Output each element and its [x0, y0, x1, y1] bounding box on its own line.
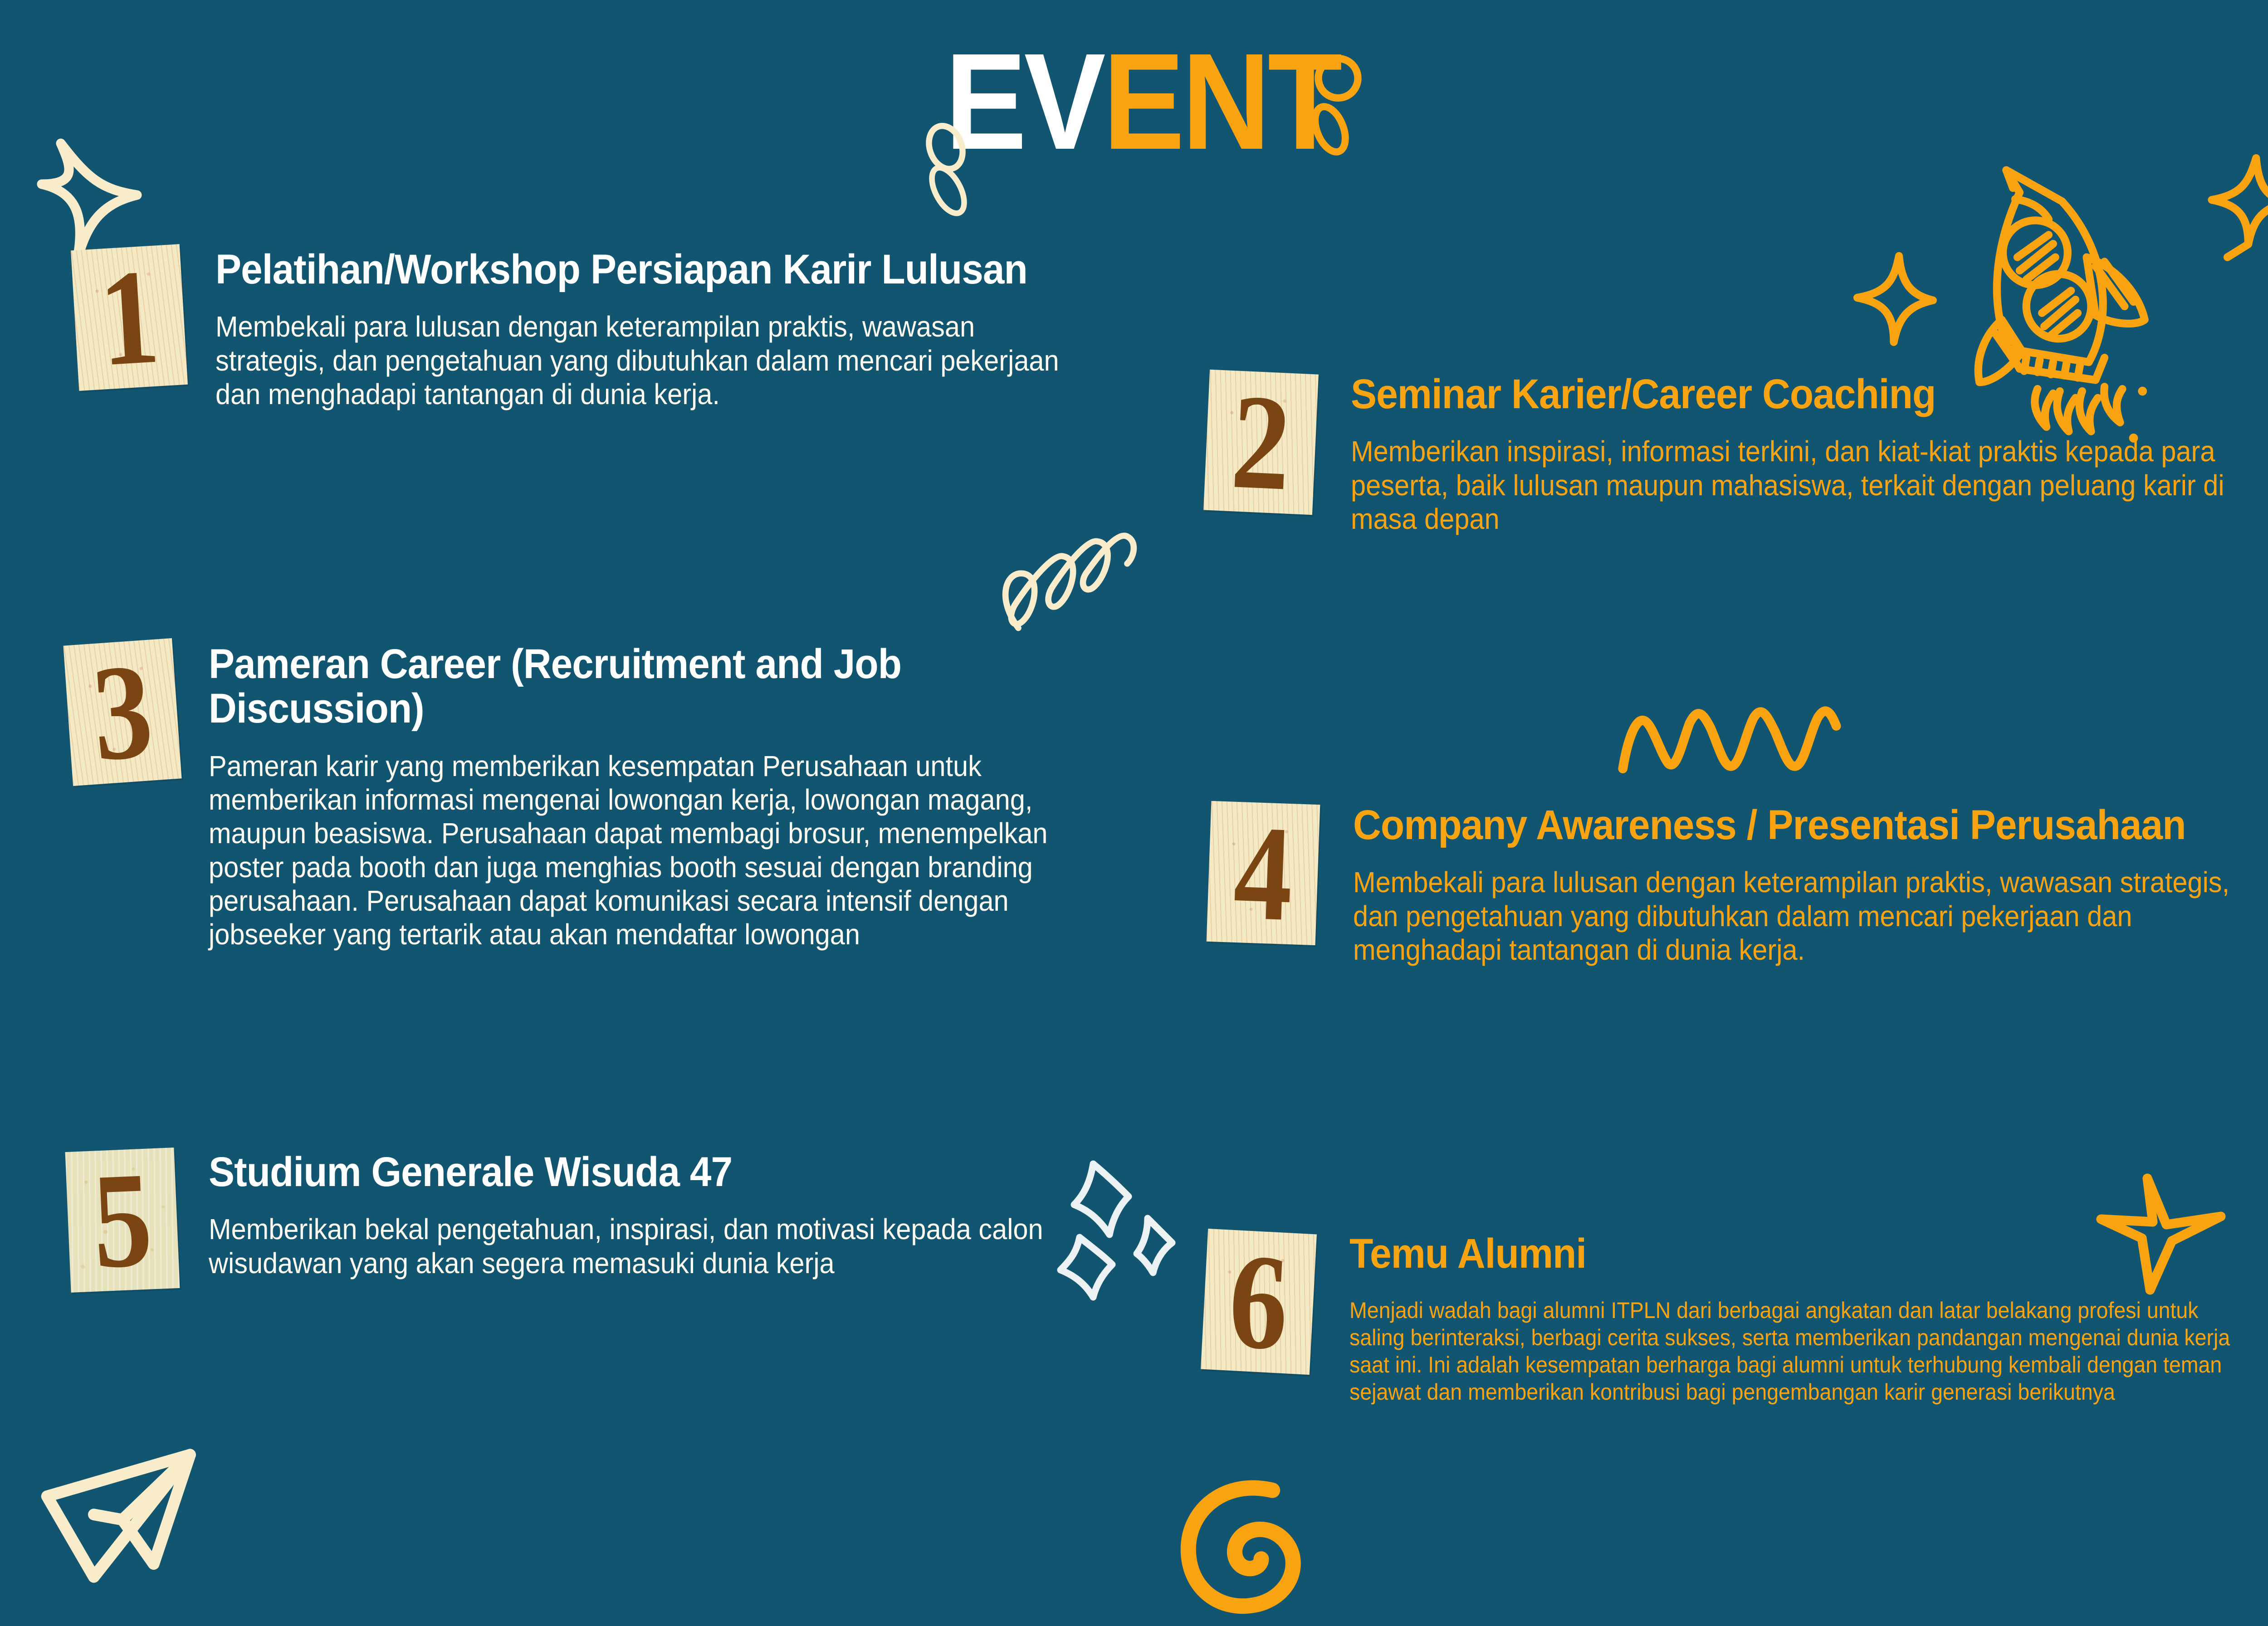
item-title: Company Awareness / Presentasi Perusahaa…	[1353, 803, 2240, 847]
zigzag-wave-icon	[1615, 698, 1842, 780]
item-number-badge: 1	[71, 244, 188, 391]
item-number: 5	[91, 1163, 154, 1277]
item-number-badge: 2	[1203, 370, 1319, 515]
item-number-badge: 6	[1201, 1229, 1317, 1375]
event-item-6: 6 Temu Alumni Menjadi wadah bagi alumni …	[1204, 1231, 2268, 1406]
event-item-1: 1 Pelatihan/Workshop Persiapan Karir Lul…	[75, 247, 1145, 411]
item-number: 1	[97, 260, 161, 375]
item-content: Pameran Career (Recruitment and Job Disc…	[177, 642, 1175, 951]
item-title: Seminar Karier/Career Coaching	[1351, 372, 2268, 416]
event-item-2: 2 Seminar Karier/Career Coaching Memberi…	[1207, 372, 2268, 536]
scribble-ring-icon	[921, 118, 971, 177]
item-description: Menjadi wadah bagi alumni ITPLN dari ber…	[1349, 1297, 2244, 1406]
item-content: Company Awareness / Presentasi Perusahaa…	[1318, 803, 2268, 967]
scribble-ring-icon	[1311, 50, 1365, 107]
event-infographic-poster: EVENT	[0, 0, 2268, 1625]
item-number-badge: 5	[65, 1147, 180, 1293]
item-number-badge: 4	[1207, 801, 1320, 945]
item-content: Temu Alumni Menjadi wadah bagi alumni IT…	[1313, 1231, 2268, 1406]
event-item-3: 3 Pameran Career (Recruitment and Job Di…	[68, 642, 1175, 951]
item-title: Studium Generale Wisuda 47	[209, 1150, 1074, 1194]
item-title: Temu Alumni	[1349, 1231, 2244, 1276]
item-title: Pameran Career (Recruitment and Job Disc…	[209, 642, 1107, 731]
item-number: 2	[1229, 385, 1293, 499]
item-description: Membekali para lulusan dengan keterampil…	[1353, 865, 2240, 967]
item-number: 4	[1232, 816, 1295, 930]
item-description: Memberikan inspirasi, informasi terkini,…	[1351, 435, 2268, 536]
sparkle-four-point-icon	[2191, 150, 2268, 263]
item-number: 6	[1227, 1245, 1291, 1359]
event-item-4: 4 Company Awareness / Presentasi Perusah…	[1209, 803, 2268, 967]
item-content: Pelatihan/Workshop Persiapan Karir Lulus…	[184, 247, 1145, 411]
item-description: Pameran karir yang memberikan kesempatan…	[209, 749, 1107, 951]
scribble-ring-icon	[1306, 98, 1354, 161]
item-content: Seminar Karier/Career Coaching Memberika…	[1315, 372, 2268, 536]
paper-plane-icon	[32, 1429, 231, 1624]
item-content: Studium Generale Wisuda 47 Memberikan be…	[177, 1150, 1139, 1280]
page-title-part-orange: ENT	[1103, 25, 1340, 178]
spiral-icon	[1177, 1470, 1331, 1626]
page-title: EVENT	[0, 41, 2268, 163]
item-description: Membekali para lulusan dengan keterampil…	[215, 310, 1080, 411]
event-item-5: 5 Studium Generale Wisuda 47 Memberikan …	[68, 1150, 1139, 1290]
scribble-ring-icon	[925, 156, 971, 225]
page-title-part-white: EV	[945, 25, 1103, 178]
item-number-badge: 3	[63, 638, 181, 786]
spring-coil-squiggle-icon	[998, 522, 1148, 630]
item-title: Pelatihan/Workshop Persiapan Karir Lulus…	[215, 247, 1080, 292]
item-description: Memberikan bekal pengetahuan, inspirasi,…	[209, 1212, 1074, 1279]
item-number: 3	[89, 654, 156, 770]
sparkle-four-point-icon	[1842, 245, 1946, 358]
